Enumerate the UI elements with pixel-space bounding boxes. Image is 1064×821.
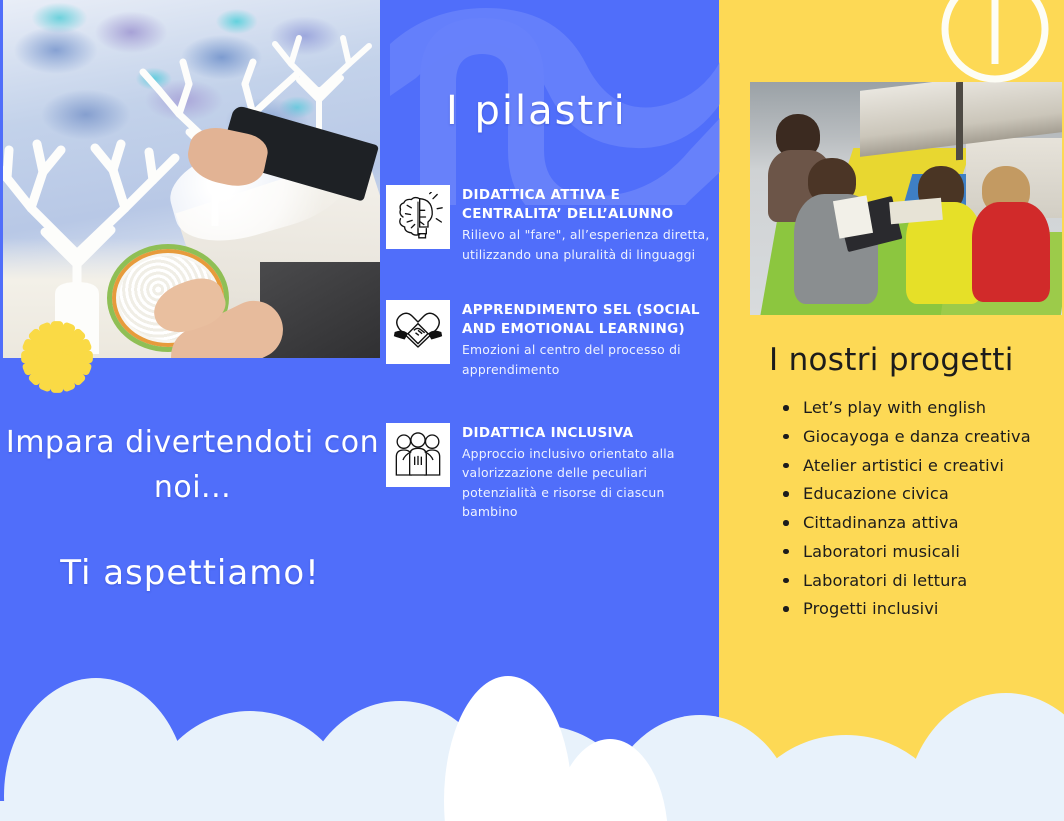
pillar-item: DIDATTICA INCLUSIVA Approccio inclusivo …	[386, 423, 716, 521]
pillar-heading: DIDATTICA INCLUSIVA	[462, 424, 716, 443]
heart-handshake-icon	[386, 300, 450, 364]
cta-text: Ti aspettiamo!	[10, 553, 370, 593]
list-item: Educazione civica	[779, 484, 1059, 504]
pillar-description: Emozioni al centro del processo di appre…	[462, 340, 716, 378]
list-item: Laboratori di lettura	[779, 571, 1059, 591]
list-item: Giocayoga e danza creativa	[779, 427, 1059, 447]
pillar-item: DIDATTICA ATTIVA E CENTRALITA’ DELL’ALUN…	[386, 185, 716, 264]
starburst-icon	[18, 318, 96, 396]
page-title-pilastri: I pilastri	[446, 88, 627, 134]
group-people-icon	[386, 423, 450, 487]
pillar-description: Approccio inclusivo orientato alla valor…	[462, 444, 716, 521]
brain-lightbulb-icon	[386, 185, 450, 249]
arc-outline-icon	[930, 0, 1060, 94]
page-title-progetti: I nostri progetti	[769, 342, 1014, 378]
pillar-description: Rilievo al "fare", all’esperienza dirett…	[462, 225, 716, 263]
child-body	[972, 202, 1050, 302]
book	[889, 198, 943, 224]
book-page	[833, 195, 873, 238]
list-item: Progetti inclusivi	[779, 599, 1059, 619]
photo-children-reading	[750, 82, 1062, 315]
pillar-heading: DIDATTICA ATTIVA E CENTRALITA’ DELL’ALUN…	[462, 186, 716, 224]
projects-list: Let’s play with english Giocayoga e danz…	[779, 398, 1059, 628]
pillar-item: APPRENDIMENTO SEL (SOCIAL AND EMOTIONAL …	[386, 300, 716, 379]
list-item: Let’s play with english	[779, 398, 1059, 418]
list-item: Laboratori musicali	[779, 542, 1059, 562]
photo-craft-activity	[3, 0, 380, 358]
poster-root: I pilastri DIDATTICA ATTIVA E CENTRALITA	[0, 0, 1064, 821]
headline-text: Impara divertendoti con noi...	[0, 420, 385, 510]
list-item: Cittadinanza attiva	[779, 513, 1059, 533]
pillar-heading: APPRENDIMENTO SEL (SOCIAL AND EMOTIONAL …	[462, 301, 716, 339]
list-item: Atelier artistici e creativi	[779, 456, 1059, 476]
